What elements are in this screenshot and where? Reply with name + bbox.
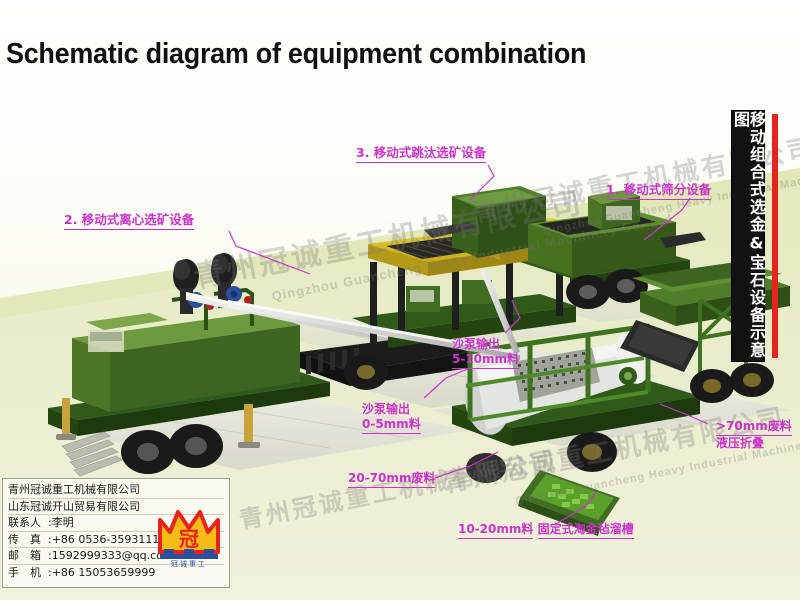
callout-waste-70-line1: >70mm废料: [716, 419, 792, 436]
fax-value: +86 0536-3593111: [52, 533, 160, 546]
callout-sluice-line2: 固定式淘金毡溜槽: [538, 522, 634, 539]
callout-pump-output-5-10mm: 沙泵输出 5-10mm料: [452, 337, 519, 369]
crown-logo: 冠 冠诚重工: [156, 506, 222, 568]
contact-label: 联系人: [8, 515, 48, 531]
company-name-1: 青州冠诚重工机械有限公司: [8, 482, 224, 499]
contact-value: 李明: [52, 516, 74, 529]
vertical-title-text: 移动组合式选金&宝石设备示意图: [732, 111, 764, 361]
callout-waste-over-70mm: >70mm废料 液压折叠: [716, 419, 792, 451]
callout-waste-70-line2: 液压折叠: [716, 436, 792, 451]
callout-pump-0-5-line1: 沙泵输出: [362, 402, 421, 417]
email-label: 邮 箱: [8, 548, 48, 564]
callout-pump-output-0-5mm: 沙泵输出 0-5mm料: [362, 402, 421, 434]
callout-centrifugal-plant: 2. 移动式离心选矿设备: [64, 212, 194, 230]
fax-label: 传 真: [8, 532, 48, 548]
vertical-red-bar: [772, 114, 778, 358]
callout-screening-plant: 1. 移动式筛分设备: [606, 182, 711, 200]
svg-text:冠: 冠: [179, 527, 199, 551]
mobile-value: +86 15053659999: [52, 566, 156, 579]
callout-pump-5-10-line1: 沙泵输出: [452, 337, 519, 352]
callout-fixed-sluice: 10-20mm料 固定式淘金毡溜槽: [458, 522, 634, 539]
mobile-label: 手 机: [8, 565, 48, 581]
callout-pump-0-5-line2: 0-5mm料: [362, 417, 421, 434]
callout-jig-plant: 3. 移动式跳汰选矿设备: [356, 145, 486, 163]
callout-sluice-line1: 10-20mm料: [458, 522, 533, 539]
callout-waste-20-70mm: 20-70mm废料: [348, 471, 435, 488]
diagram-canvas: 青州冠诚重工机械有限公司 Qingzhou Guancheng Heavy In…: [0, 0, 800, 600]
svg-text:冠诚重工: 冠诚重工: [171, 559, 207, 568]
page-title: Schematic diagram of equipment combinati…: [6, 38, 586, 71]
callout-pump-5-10-line2: 5-10mm料: [452, 352, 519, 369]
vertical-title-banner: 移动组合式选金&宝石设备示意图: [731, 110, 765, 362]
